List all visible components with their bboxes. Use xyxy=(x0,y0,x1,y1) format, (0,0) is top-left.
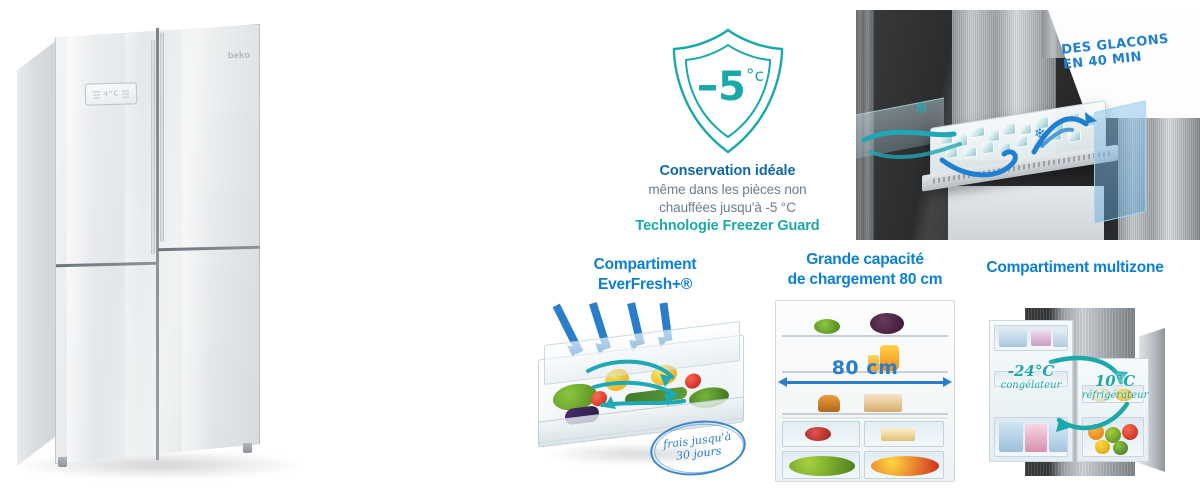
feature-capacity: Grande capacité de chargement 80 cm xyxy=(755,250,975,482)
feature-everfresh-title-line1: Compartiment xyxy=(519,255,771,275)
marketing-banner: beko 4°C 5 °c xyxy=(0,0,1200,500)
fridge-handle-right[interactable] xyxy=(160,32,164,242)
feature-everfresh-title-line2: EverFresh+® xyxy=(519,275,771,295)
food-grapes xyxy=(870,313,904,334)
shield-temperature: 5 °c xyxy=(699,64,764,110)
feature-multizone-art: -24°C congélateur 10°C réfrigérateur xyxy=(985,302,1165,484)
fridge-handle-left[interactable] xyxy=(151,40,155,255)
shield-badge: 5 °c xyxy=(585,22,870,160)
feature-capacity-title-line1: Grande capacité xyxy=(755,250,975,270)
airflow-arrows xyxy=(856,94,1156,204)
fridge-center-seam xyxy=(156,28,159,460)
multizone-fridge-name: réfrigérateur xyxy=(1073,390,1157,402)
ice-maker-photo: DES GLACONS EN 40 MIN xyxy=(856,10,1200,240)
feature-multizone-title-line1: Compartiment multizone xyxy=(965,258,1185,278)
freezer-guard-subtitle-line1: même dans les pièces non xyxy=(585,181,870,199)
food-salad xyxy=(814,319,840,334)
feature-everfresh-art: frais jusqu'à 30 jours xyxy=(530,305,760,485)
feature-capacity-title-line2: de chargement 80 cm xyxy=(755,270,975,290)
product-image-refrigerator: beko 4°C xyxy=(0,0,330,500)
svg-text:5: 5 xyxy=(718,64,746,110)
freezer-guard-subtitle-line2: chauffées jusqu'à -5 °C xyxy=(585,199,870,217)
interior-shelf-4 xyxy=(782,417,948,419)
fridge-interior-cabinet: 80 cm xyxy=(775,300,955,482)
multizone-fridge-temp: 10°C xyxy=(1073,374,1157,390)
svg-text:°c: °c xyxy=(746,66,764,86)
interior-bin-fruit[interactable] xyxy=(864,451,944,479)
fridge-foot-left xyxy=(58,457,67,467)
feature-capacity-art: 80 cm xyxy=(775,300,955,482)
control-panel-lines-left xyxy=(93,91,100,98)
freezer-guard-block: 5 °c Conservation idéale même dans les p… xyxy=(585,22,870,237)
control-panel-lines-right xyxy=(122,90,129,97)
feature-capacity-title: Grande capacité de chargement 80 cm xyxy=(755,250,975,290)
freezer-guard-title: Conservation idéale xyxy=(585,162,870,181)
interior-shelf-1 xyxy=(782,335,948,337)
freezer-guard-technology: Technologie Freezer Guard xyxy=(585,216,870,236)
feature-everfresh: Compartiment EverFresh+® xyxy=(519,255,771,485)
food-burger xyxy=(818,395,840,412)
multizone-fridge-label: 10°C réfrigérateur xyxy=(1073,374,1157,402)
multizone-freezer-label: -24°C congélateur xyxy=(989,364,1073,392)
multizone-freezer-temp: -24°C xyxy=(989,364,1073,380)
food-cake xyxy=(864,394,902,412)
control-panel-display: 4°C xyxy=(103,89,119,98)
control-panel[interactable]: 4°C xyxy=(85,82,138,105)
interior-shelf-3 xyxy=(782,413,948,415)
fridge-foot-right xyxy=(243,443,252,453)
feature-multizone-title: Compartiment multizone xyxy=(965,258,1185,278)
everfresh-freshness-stamp: frais jusqu'à 30 jours xyxy=(650,421,746,475)
feature-multizone: Compartiment multizone xyxy=(965,258,1185,484)
feature-everfresh-title: Compartiment EverFresh+® xyxy=(519,255,771,295)
capacity-dimension-label: 80 cm xyxy=(776,357,954,379)
interior-bin-meat[interactable] xyxy=(782,421,860,447)
multizone-freezer-name: congélateur xyxy=(989,380,1073,392)
interior-bin-vegetables[interactable] xyxy=(782,451,860,479)
shield-icon: 5 °c xyxy=(666,25,790,157)
capacity-dimension-arrow xyxy=(786,381,944,384)
brand-logo: beko xyxy=(228,50,250,61)
interior-bin-cheese[interactable] xyxy=(864,421,944,447)
